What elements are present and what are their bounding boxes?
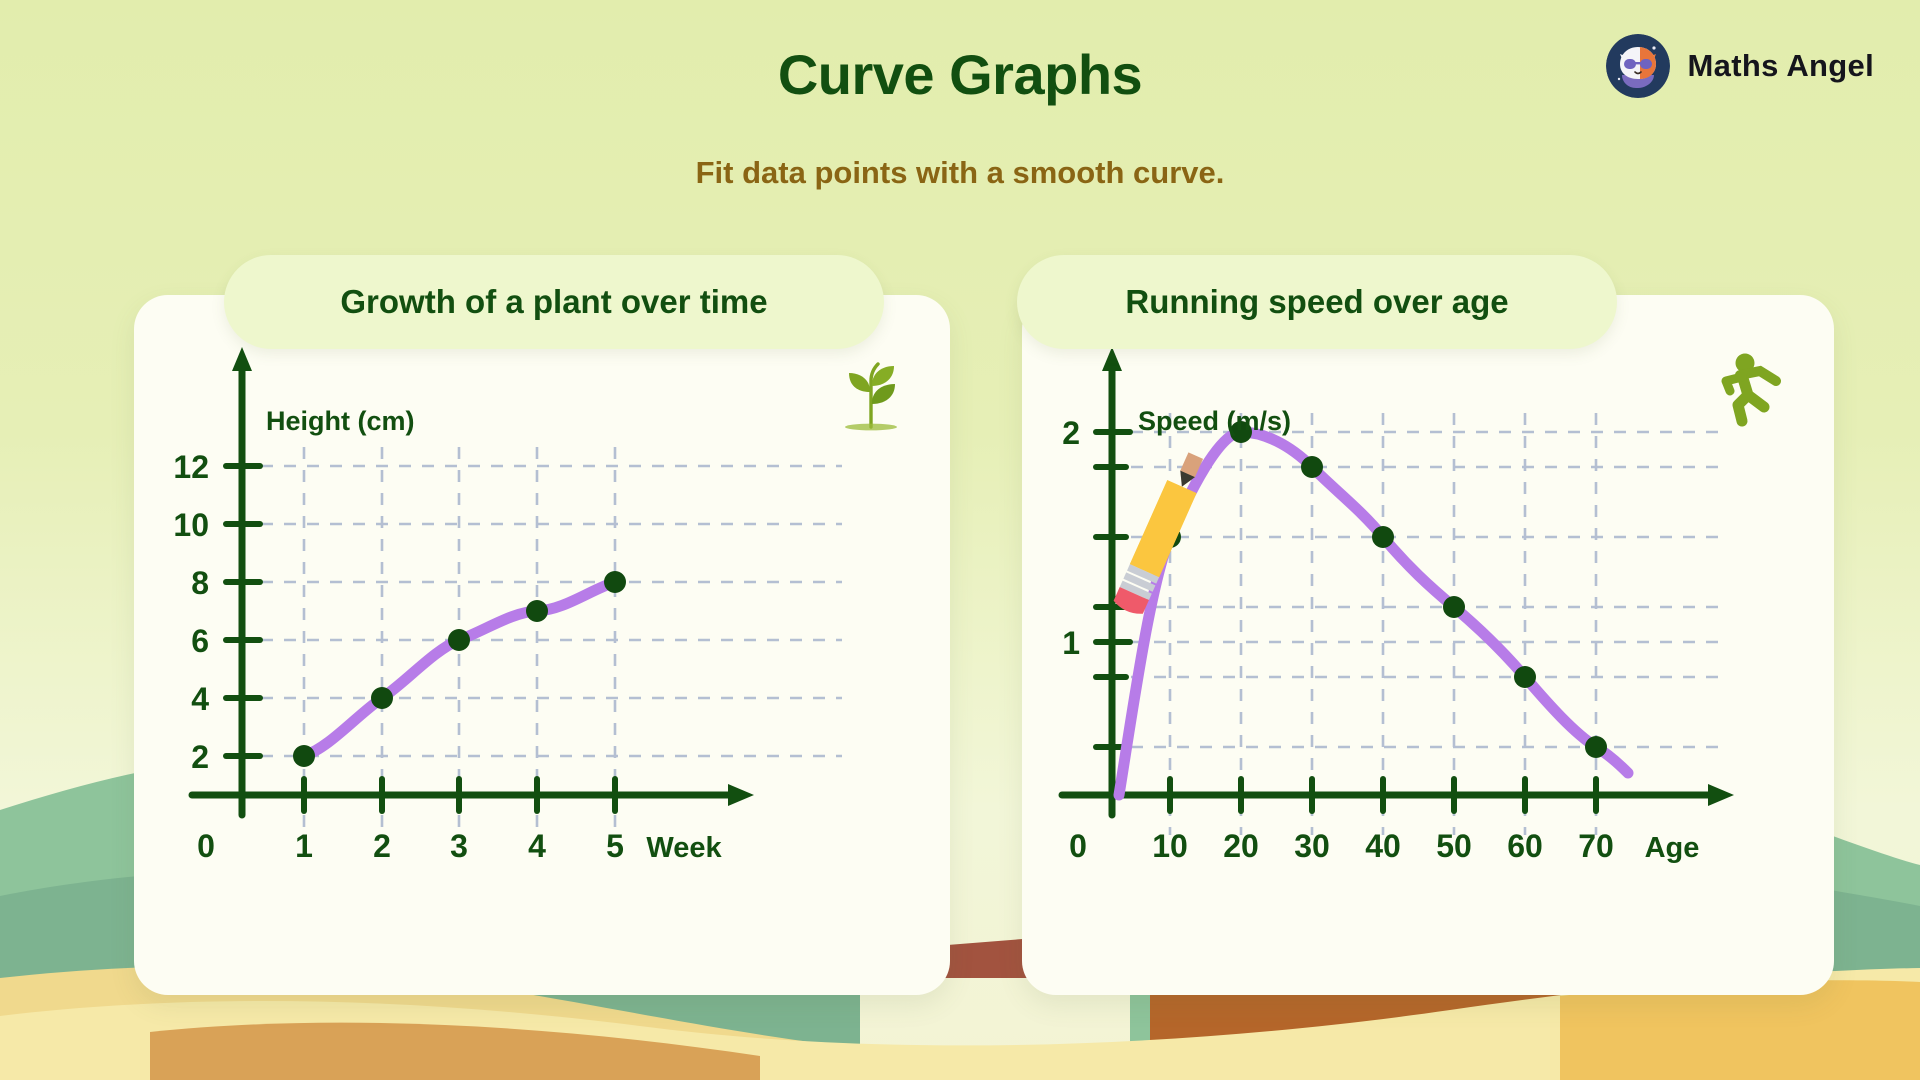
chart-title-pill-plant: Growth of a plant over time	[224, 255, 884, 349]
cat-mascot-logo-icon	[1606, 34, 1670, 98]
x-axis-arrowhead	[1708, 784, 1734, 806]
chart-card-running: Running speed over age	[1022, 295, 1834, 995]
data-points-running	[1159, 421, 1607, 758]
x-tick-label: 10	[1152, 828, 1188, 864]
x-tick-label: 20	[1223, 828, 1259, 864]
x-axis-title: Week	[646, 832, 722, 864]
x-axis-arrowhead	[728, 784, 754, 806]
x-tick-label: 4	[528, 828, 546, 864]
x-tick-label: 5	[606, 828, 624, 864]
y-tick-label: 12	[173, 449, 209, 485]
x-tick-label: 60	[1507, 828, 1543, 864]
chart-title-label-running: Running speed over age	[1125, 283, 1508, 321]
data-point	[371, 687, 393, 709]
brand-lockup: Maths Angel	[1606, 34, 1874, 98]
data-point	[293, 745, 315, 767]
data-point	[1443, 596, 1465, 618]
x-tick-label: 0	[197, 828, 215, 864]
x-tick-label: 30	[1294, 828, 1330, 864]
chart-plot-running: Speed (m/s) 2 1 0 10 20 30 40 50 60 70 A…	[1022, 295, 1834, 995]
y-axis-arrowhead	[1102, 347, 1122, 371]
x-tick-label: 2	[373, 828, 391, 864]
chart-plot-plant: Height (cm) 2 4 6 8 10 12 0 1 2 3 4 5 We…	[134, 295, 950, 995]
x-tick-label: 0	[1069, 828, 1087, 864]
x-tick-label: 3	[450, 828, 468, 864]
y-axis-title: Height (cm)	[266, 406, 415, 436]
y-tick-label: 2	[191, 739, 209, 775]
data-point	[1585, 736, 1607, 758]
x-tick-label: 70	[1578, 828, 1614, 864]
y-axis-title: Speed (m/s)	[1138, 406, 1291, 436]
page-subtitle: Fit data points with a smooth curve.	[0, 155, 1920, 191]
x-tick-label: 1	[295, 828, 313, 864]
gridlines-vertical	[1170, 413, 1596, 835]
y-axis-arrowhead	[232, 347, 252, 371]
chart-card-plant: Growth of a plant over time	[134, 295, 950, 995]
x-tick-label: 50	[1436, 828, 1472, 864]
data-point	[526, 600, 548, 622]
y-tick-label: 6	[191, 623, 209, 659]
data-point	[1514, 666, 1536, 688]
x-axis-title: Age	[1645, 832, 1700, 864]
y-tick-label: 1	[1062, 625, 1080, 661]
data-point	[1301, 456, 1323, 478]
y-tick-label: 2	[1062, 415, 1080, 451]
gridlines-horizontal-minor	[1108, 467, 1722, 747]
y-tick-label: 4	[191, 681, 209, 717]
x-tick-label: 40	[1365, 828, 1401, 864]
y-tick-label: 8	[191, 565, 209, 601]
y-tick-label: 10	[173, 507, 209, 543]
chart-title-pill-running: Running speed over age	[1017, 255, 1617, 349]
brand-name: Maths Angel	[1688, 48, 1874, 84]
data-point	[448, 629, 470, 651]
pencil-illustration	[1112, 449, 1210, 617]
data-point	[604, 571, 626, 593]
page-header: Curve Graphs Fit data points with a smoo…	[0, 0, 1920, 210]
data-point	[1372, 526, 1394, 548]
data-curve-running	[1119, 432, 1628, 795]
chart-title-label-plant: Growth of a plant over time	[340, 283, 767, 321]
